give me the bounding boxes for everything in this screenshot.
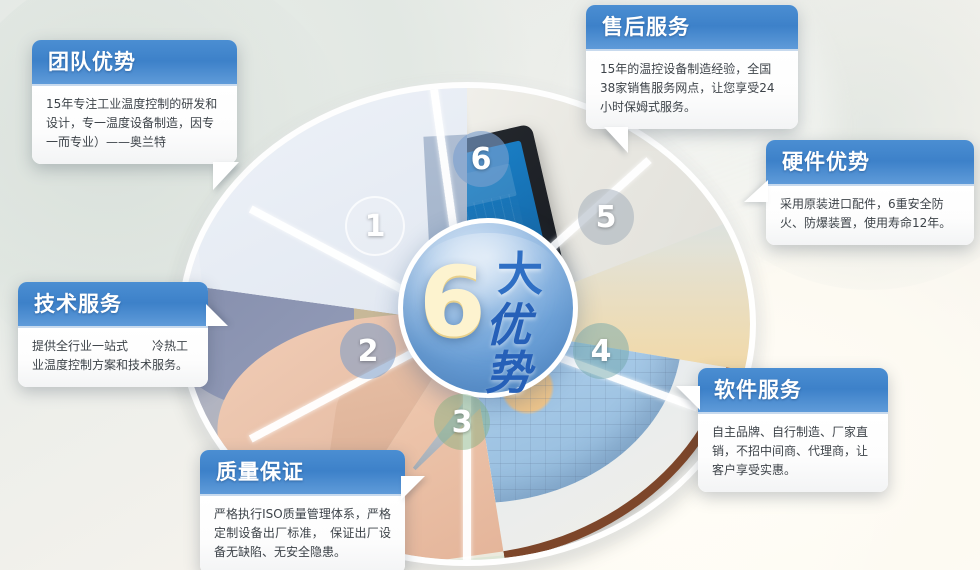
callout-body: 自主品牌、自行制造、厂家直销，不招中间商、代理商，让客户享受实惠。 — [698, 414, 888, 492]
callout-text: 严格执行ISO质量管理体系，严格定制设备出厂标准， 保证出厂设备无缺陷、无安全隐… — [214, 505, 391, 562]
callout-body: 严格执行ISO质量管理体系，严格定制设备出厂标准， 保证出厂设备无缺陷、无安全隐… — [200, 496, 405, 570]
callout-title: 团队优势 — [48, 46, 221, 76]
segment-badge-2[interactable]: 2 — [340, 323, 396, 379]
callout-card-team[interactable]: 团队优势 15年专注工业温度控制的研发和设计，专一温度设备制造，因专一而专业）—… — [32, 40, 237, 164]
segment-badge-4[interactable]: 4 — [573, 323, 629, 379]
callout-body: 提供全行业一站式 冷热工业温度控制方案和技术服务。 — [18, 328, 208, 387]
callout-card-software[interactable]: 软件服务 自主品牌、自行制造、厂家直销，不招中间商、代理商，让客户享受实惠。 — [698, 368, 888, 492]
callout-card-hardware[interactable]: 硬件优势 采用原装进口配件，6重安全防火、防爆装置，使用寿命12年。 — [766, 140, 974, 245]
callout-card-after-sales[interactable]: 售后服务 15年的温控设备制造经验，全国38家销售服务网点，让您享受24小时保姆… — [586, 5, 798, 129]
segment-badge-1[interactable]: 1 — [345, 196, 405, 256]
callout-header: 技术服务 — [18, 282, 208, 328]
callout-title: 软件服务 — [714, 374, 872, 404]
center-word-big: 大 — [497, 251, 543, 297]
callout-title: 质量保证 — [216, 456, 389, 486]
callout-card-quality[interactable]: 质量保证 严格执行ISO质量管理体系，严格定制设备出厂标准， 保证出厂设备无缺陷… — [200, 450, 405, 570]
center-circle: 6 大 优势 — [398, 218, 578, 398]
segment-badge-5[interactable]: 5 — [578, 189, 634, 245]
callout-title: 硬件优势 — [782, 146, 958, 176]
callout-tail — [604, 127, 628, 153]
callout-title: 技术服务 — [34, 288, 192, 318]
callout-header: 团队优势 — [32, 40, 237, 86]
callout-body: 采用原装进口配件，6重安全防火、防爆装置，使用寿命12年。 — [766, 186, 974, 245]
callout-text: 15年的温控设备制造经验，全国38家销售服务网点，让您享受24小时保姆式服务。 — [600, 60, 784, 117]
callout-text: 采用原装进口配件，6重安全防火、防爆装置，使用寿命12年。 — [780, 195, 960, 233]
segment-badge-6[interactable]: 6 — [453, 131, 509, 187]
segment-badge-3[interactable]: 3 — [434, 394, 490, 450]
infographic-canvas: INTC — [0, 0, 980, 570]
callout-text: 自主品牌、自行制造、厂家直销，不招中间商、代理商，让客户享受实惠。 — [712, 423, 874, 480]
callout-tail — [744, 180, 768, 202]
callout-header: 售后服务 — [586, 5, 798, 51]
callout-text: 提供全行业一站式 冷热工业温度控制方案和技术服务。 — [32, 337, 194, 375]
callout-header: 软件服务 — [698, 368, 888, 414]
callout-header: 硬件优势 — [766, 140, 974, 186]
callout-tail — [676, 386, 700, 410]
callout-text: 15年专注工业温度控制的研发和设计，专一温度设备制造，因专一而专业）——奥兰特 — [46, 95, 223, 152]
callout-body: 15年的温控设备制造经验，全国38家销售服务网点，让您享受24小时保姆式服务。 — [586, 51, 798, 129]
callout-body: 15年专注工业温度控制的研发和设计，专一温度设备制造，因专一而专业）——奥兰特 — [32, 86, 237, 164]
callout-header: 质量保证 — [200, 450, 405, 496]
callout-card-technical[interactable]: 技术服务 提供全行业一站式 冷热工业温度控制方案和技术服务。 — [18, 282, 208, 387]
center-word-advantage: 优势 — [485, 301, 573, 397]
callout-tail — [206, 304, 228, 326]
center-number: 6 — [419, 257, 486, 347]
callout-tail — [213, 162, 239, 190]
callout-tail — [401, 476, 425, 500]
callout-title: 售后服务 — [602, 11, 782, 41]
